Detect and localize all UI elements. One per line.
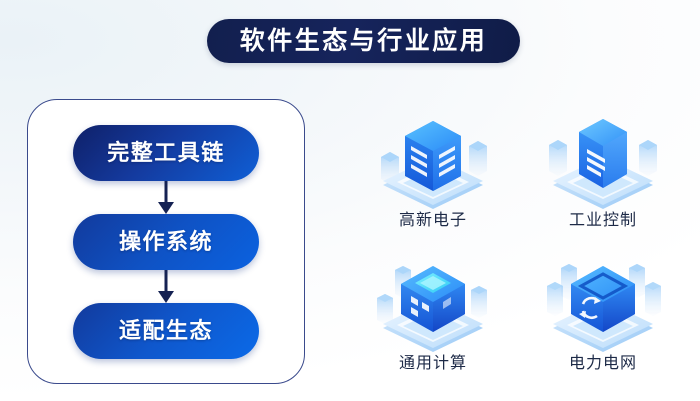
arrow-head xyxy=(158,291,174,303)
compute-cube-icon xyxy=(373,256,493,352)
application-label: 电力电网 xyxy=(569,356,637,372)
page-title: 软件生态与行业应用 xyxy=(240,29,488,54)
ghost-tower-right xyxy=(471,286,487,318)
flow-step-label: 操作系统 xyxy=(119,231,213,253)
ghost-tower-left-short xyxy=(547,282,563,316)
flow-step-operating-system[interactable]: 操作系统 xyxy=(73,214,259,270)
ghost-tower-right xyxy=(639,140,657,176)
flow-step-label: 适配生态 xyxy=(119,320,213,342)
control-cabinet-icon xyxy=(543,113,663,209)
page-title-pill: 软件生态与行业应用 xyxy=(207,19,520,63)
server-tower-icon xyxy=(373,113,493,209)
application-icon-grid: 高新电子 xyxy=(348,100,688,385)
application-item-high-tech-electronics[interactable]: 高新电子 xyxy=(348,100,518,243)
flow-step-label: 完整工具链 xyxy=(107,142,225,164)
arrow-down-icon xyxy=(156,270,176,303)
ghost-tower-left-far xyxy=(377,294,393,324)
arrow-stem xyxy=(165,181,168,204)
application-label: 工业控制 xyxy=(569,213,637,229)
application-label: 通用计算 xyxy=(399,356,467,372)
flow-step-toolchain[interactable]: 完整工具链 xyxy=(73,125,259,181)
arrow-head xyxy=(158,202,174,214)
software-stack-flow: 完整工具链 操作系统 适配生态 xyxy=(28,100,304,383)
software-stack-card: 完整工具链 操作系统 适配生态 xyxy=(27,99,305,384)
flow-step-adaptation-ecosystem[interactable]: 适配生态 xyxy=(73,303,259,359)
application-item-industrial-control[interactable]: 工业控制 xyxy=(518,100,688,243)
ghost-tower-left xyxy=(549,140,567,176)
ghost-tower-right-short xyxy=(645,282,661,316)
arrow-stem xyxy=(165,270,168,293)
arrow-down-icon xyxy=(156,181,176,214)
application-item-general-computing[interactable]: 通用计算 xyxy=(348,243,518,386)
application-item-power-grid[interactable]: 电力电网 xyxy=(518,243,688,386)
application-label: 高新电子 xyxy=(399,213,467,229)
ghost-tower-right xyxy=(469,141,487,176)
slide-root: 软件生态与行业应用 完整工具链 操作系统 适配生态 xyxy=(0,0,700,401)
power-grid-cube-icon xyxy=(543,256,663,352)
